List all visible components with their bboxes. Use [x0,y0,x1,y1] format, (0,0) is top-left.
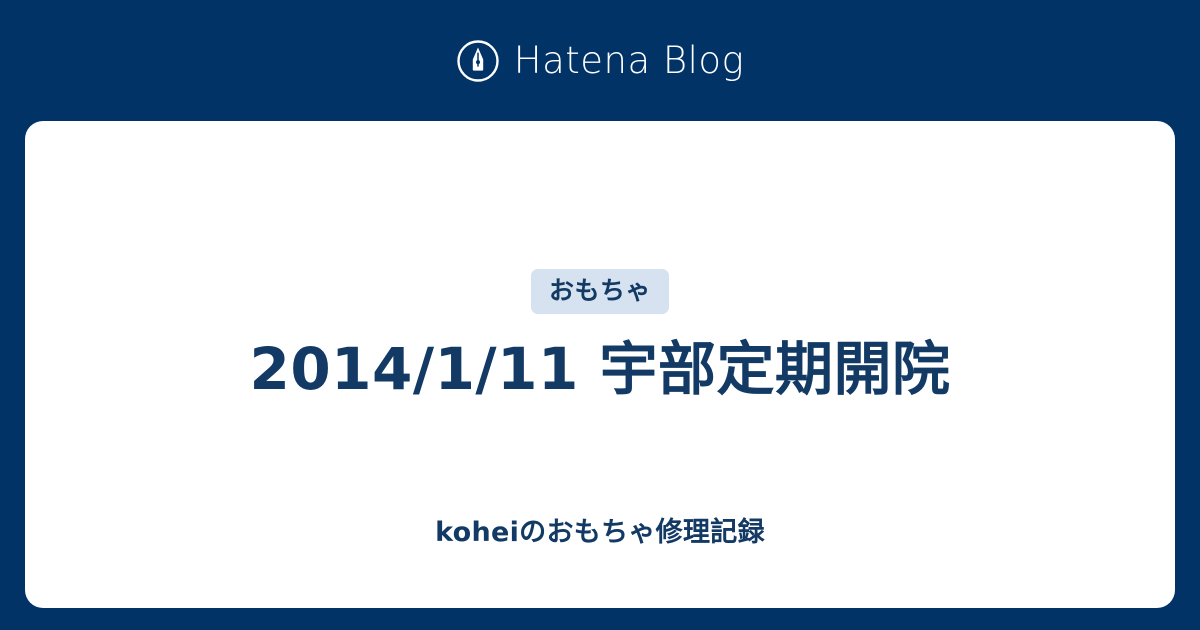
blog-title-row: koheiのおもちゃ修理記録 [25,519,1175,546]
og-image-canvas: Hatena Blog おもちゃ 2014/1/11 宇部定期開院 koheiの… [0,0,1200,630]
blog-title[interactable]: koheiのおもちゃ修理記録 [435,519,765,546]
hatena-blog-brand-header: Hatena Blog [0,0,1200,121]
fountain-pen-nib-icon [456,39,500,83]
category-tag[interactable]: おもちゃ [531,269,669,314]
entry-title: 2014/1/11 宇部定期開院 [249,336,950,402]
entry-card: おもちゃ 2014/1/11 宇部定期開院 koheiのおもちゃ修理記録 [25,121,1175,608]
entry-card-inner: おもちゃ 2014/1/11 宇部定期開院 koheiのおもちゃ修理記録 [25,121,1175,608]
hatena-blog-wordmark: Hatena Blog [514,42,745,79]
